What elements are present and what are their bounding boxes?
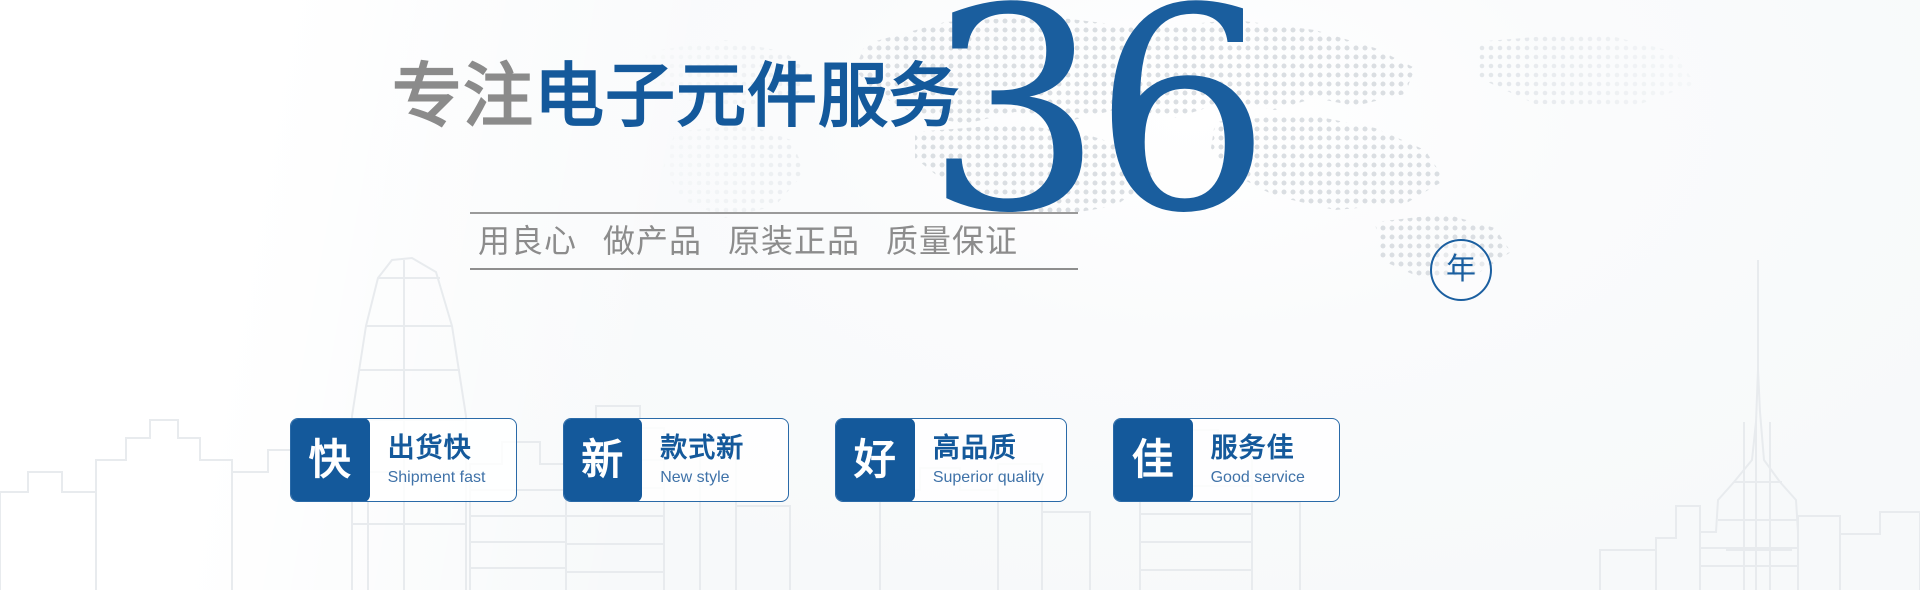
headline-gray-part: 专注	[392, 62, 534, 131]
feature-badge-char: 快	[309, 439, 351, 481]
feature-title-en: New style	[660, 468, 766, 489]
feature-text: 服务佳 Good service	[1193, 419, 1339, 501]
subtitle-item-1: 做产品	[603, 225, 702, 257]
feature-title-cn: 出货快	[388, 433, 494, 465]
feature-title-cn: 服务佳	[1211, 433, 1317, 465]
feature-list: 快 出货快 Shipment fast 新 款式新 New style 好 高品…	[290, 418, 1340, 502]
subtitle-block: 用良心 做产品 原装正品 质量保证	[470, 212, 1078, 270]
feature-badge: 新	[563, 418, 643, 502]
feature-badge-char: 佳	[1132, 439, 1174, 481]
feature-badge-char: 好	[854, 439, 896, 481]
feature-title-en: Superior quality	[933, 468, 1044, 489]
feature-badge-char: 新	[581, 439, 623, 481]
feature-badge: 好	[835, 418, 915, 502]
feature-text: 高品质 Superior quality	[915, 419, 1066, 501]
subtitle-item-0: 用良心	[478, 225, 577, 257]
headline-blue-part: 电子元件服务	[534, 62, 960, 131]
feature-title-en: Shipment fast	[388, 468, 494, 489]
feature-card-shipment-fast[interactable]: 快 出货快 Shipment fast	[290, 418, 517, 502]
year-unit-label: 年	[1446, 255, 1476, 285]
feature-card-good-service[interactable]: 佳 服务佳 Good service	[1113, 418, 1340, 502]
feature-title-en: Good service	[1211, 468, 1317, 489]
subtitle-item-3: 质量保证	[886, 225, 1018, 257]
feature-title-cn: 高品质	[933, 433, 1044, 465]
feature-card-superior-quality[interactable]: 好 高品质 Superior quality	[835, 418, 1067, 502]
subtitle-rule-bottom	[470, 268, 1078, 270]
feature-text: 出货快 Shipment fast	[370, 419, 516, 501]
year-unit-badge: 年	[1430, 239, 1492, 301]
feature-card-new-style[interactable]: 新 款式新 New style	[563, 418, 790, 502]
headline: 专注 电子元件服务	[392, 62, 960, 131]
feature-title-cn: 款式新	[660, 433, 766, 465]
subtitle-text: 用良心 做产品 原装正品 质量保证	[470, 214, 1078, 268]
feature-text: 款式新 New style	[642, 419, 788, 501]
feature-badge: 快	[290, 418, 370, 502]
subtitle-item-2: 原装正品	[728, 225, 860, 257]
promo-banner: 专注 电子元件服务 36 年 用良心 做产品 原装正品 质量保证 快 出货快 S…	[0, 0, 1920, 590]
feature-badge: 佳	[1113, 418, 1193, 502]
